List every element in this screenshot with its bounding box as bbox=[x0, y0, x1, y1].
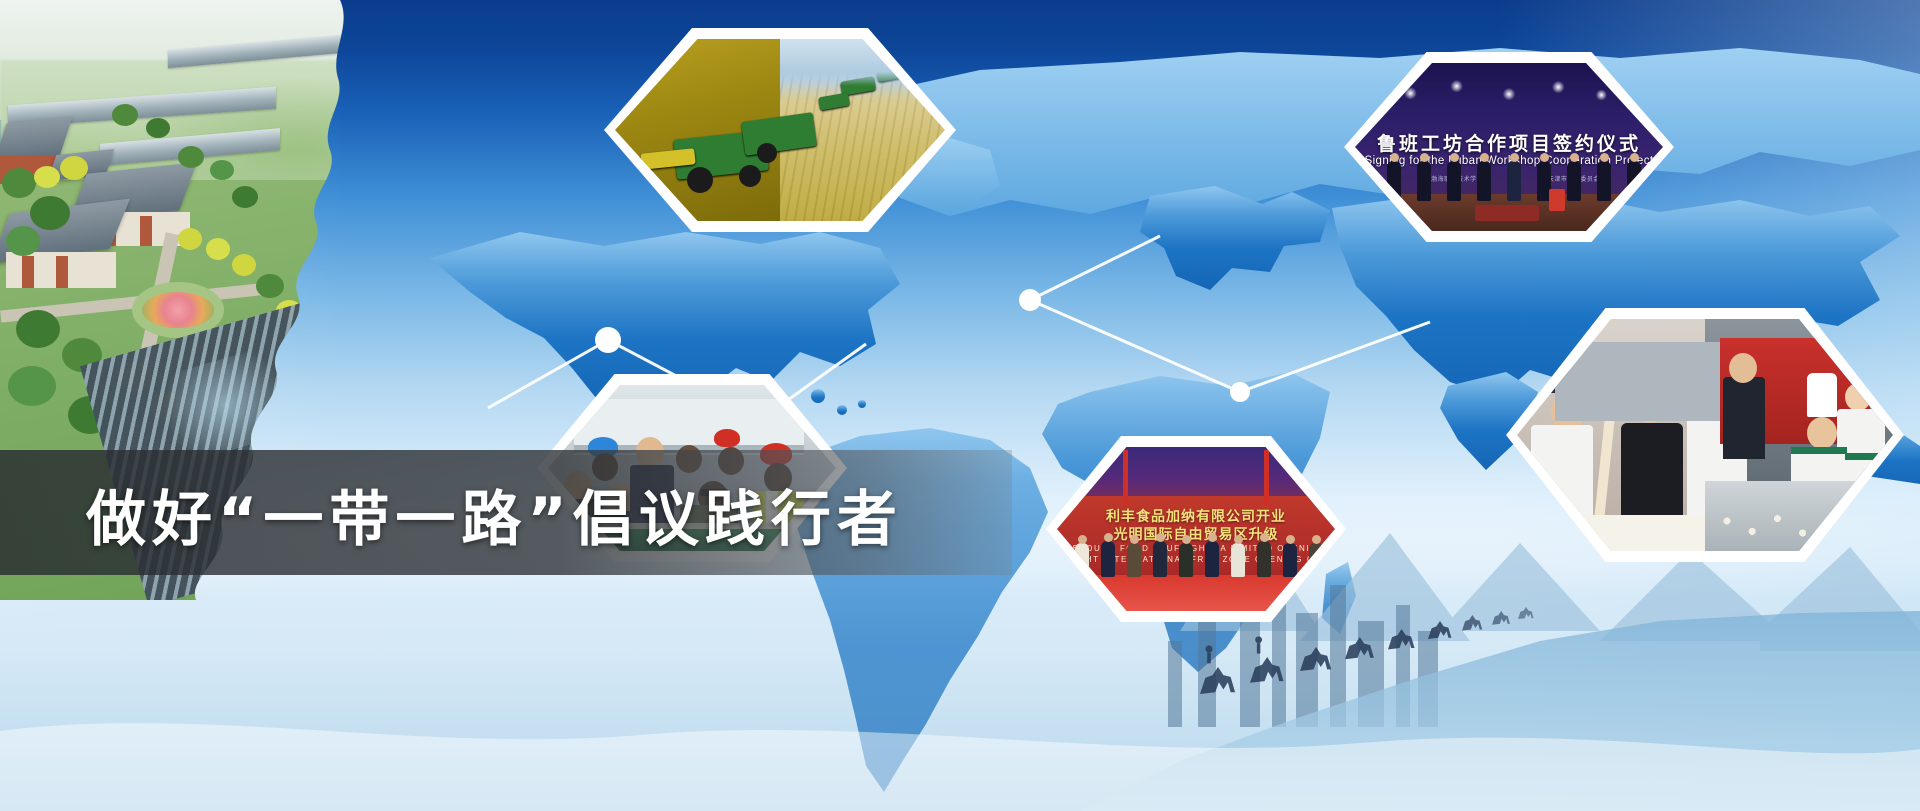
ghana-guest-row bbox=[1057, 532, 1335, 581]
photo-agriculture bbox=[615, 39, 945, 221]
page-title: 做好“一带一路”倡议践行者 bbox=[0, 455, 1012, 573]
luban-backdrop-cn: 鲁班工坊合作项目签约仪式 bbox=[1367, 129, 1650, 156]
photo-culinary-exchange bbox=[1517, 319, 1893, 551]
photo-luban-workshop: 鲁班工坊合作项目签约仪式 Signing for the Luban Works… bbox=[1355, 63, 1663, 231]
banner-image: 鲁班工坊合作项目签约仪式 Signing for the Luban Works… bbox=[0, 0, 1920, 811]
ghana-banner-cn-1: 利丰食品加纳有限公司开业 bbox=[1063, 506, 1330, 526]
photo-ghana-ceremony: 利丰食品加纳有限公司开业 光明国际自由贸易区升级 LEEFOUND FOOD S… bbox=[1057, 447, 1335, 611]
